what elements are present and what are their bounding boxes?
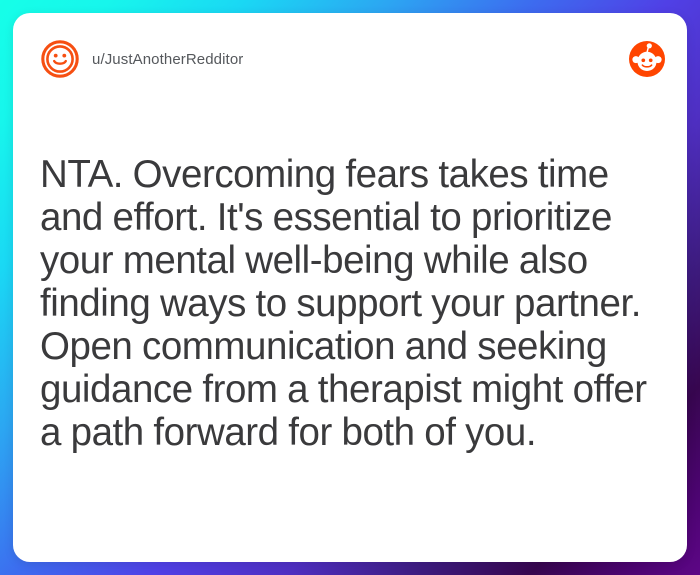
reddit-snoo-logo-icon[interactable]: [629, 41, 665, 77]
gradient-backdrop: u/JustAnotherRedditor NTA. Overcoming fe…: [0, 0, 700, 575]
smiley-face-avatar-icon[interactable]: [40, 39, 80, 79]
post-header: u/JustAnotherRedditor: [13, 13, 687, 105]
post-body-text: NTA. Overcoming fears takes time and eff…: [40, 153, 660, 454]
username-label: u/JustAnotherRedditor: [92, 51, 243, 68]
reddit-post-card: u/JustAnotherRedditor NTA. Overcoming fe…: [13, 13, 687, 562]
